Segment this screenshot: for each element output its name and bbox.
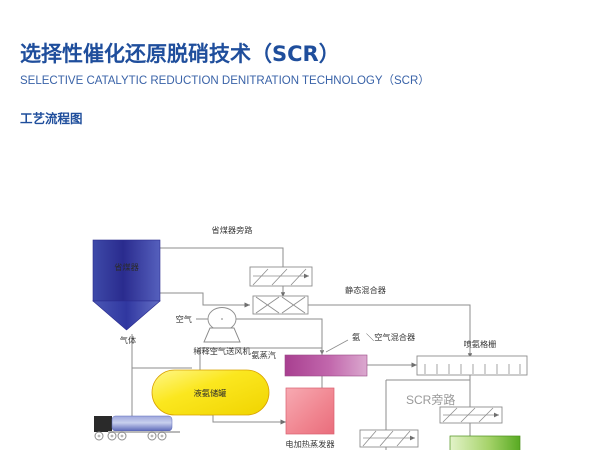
tanker-truck-node[interactable] — [94, 416, 180, 440]
pipe-economizer-bypass — [160, 248, 283, 267]
pipe-gas-line — [132, 334, 192, 368]
electric-evaporator-label: 电加热蒸发器 — [285, 439, 334, 449]
evaporator-body — [286, 388, 334, 434]
aig-node[interactable] — [417, 356, 527, 375]
economizer-bypass-label: 省煤器旁路 — [212, 225, 253, 235]
pipe-economizer-to-static-mixer — [160, 293, 250, 305]
static-mixer-node[interactable] — [253, 296, 308, 314]
ammonia-air-mixer-node[interactable] — [285, 355, 367, 376]
dilution-fan-label: 稀释空气送风机 — [193, 346, 251, 356]
ammonia-air-mixer-body — [285, 355, 367, 376]
scr-bypass-damper[interactable] — [440, 407, 502, 423]
scr-bypass-label: SCR旁路 — [406, 392, 455, 407]
aig-label: 喷氨格栅 — [464, 339, 497, 349]
process-flow-diagram: 省煤器 省煤器旁路 静态混合器 空气 — [0, 100, 600, 450]
fan-hub — [221, 318, 223, 320]
page-subtitle: SELECTIVE CATALYTIC REDUCTION DENITRATIO… — [20, 72, 430, 88]
electric-evaporator-node[interactable] — [286, 388, 334, 434]
dilution-air-fan[interactable] — [204, 308, 240, 343]
catalyst-body — [450, 436, 520, 450]
truck-cab — [94, 416, 112, 432]
economizer-node[interactable]: 省煤器 — [93, 240, 160, 330]
slide-root: 选择性催化还原脱硝技术（SCR） SELECTIVE CATALYTIC RED… — [0, 0, 600, 450]
air-inlet-label: 空气 — [176, 314, 192, 324]
page-title: 选择性催化还原脱硝技术（SCR） — [20, 38, 340, 68]
economizer-label: 省煤器 — [114, 262, 139, 272]
aig-body — [417, 356, 527, 375]
truck-chassis — [108, 431, 180, 433]
economizer-bypass-damper[interactable] — [250, 267, 312, 286]
ammonia-vapor-label: 氨蒸汽 — [251, 350, 276, 360]
static-mixer-body — [253, 296, 308, 314]
economizer-hopper — [93, 301, 160, 330]
ammonia-leader — [326, 340, 348, 352]
bypass-h-damper-body — [360, 430, 418, 447]
ammonia-label: 氨 — [352, 332, 360, 342]
ammonia-air-mixer-label: ＼空气混合器 — [366, 332, 415, 342]
tank-label: 液氨储罐 — [194, 388, 227, 398]
liquid-ammonia-tank-node[interactable]: 液氨储罐 — [152, 370, 269, 415]
static-mixer-label: 静态混合器 — [345, 285, 386, 295]
bypass-damper-body — [250, 267, 312, 286]
bypass-horizontal-damper[interactable] — [360, 430, 418, 447]
truck-tank — [112, 416, 172, 431]
catalyst-layer-node[interactable] — [450, 436, 520, 450]
gas-label: 气体 — [120, 335, 136, 345]
